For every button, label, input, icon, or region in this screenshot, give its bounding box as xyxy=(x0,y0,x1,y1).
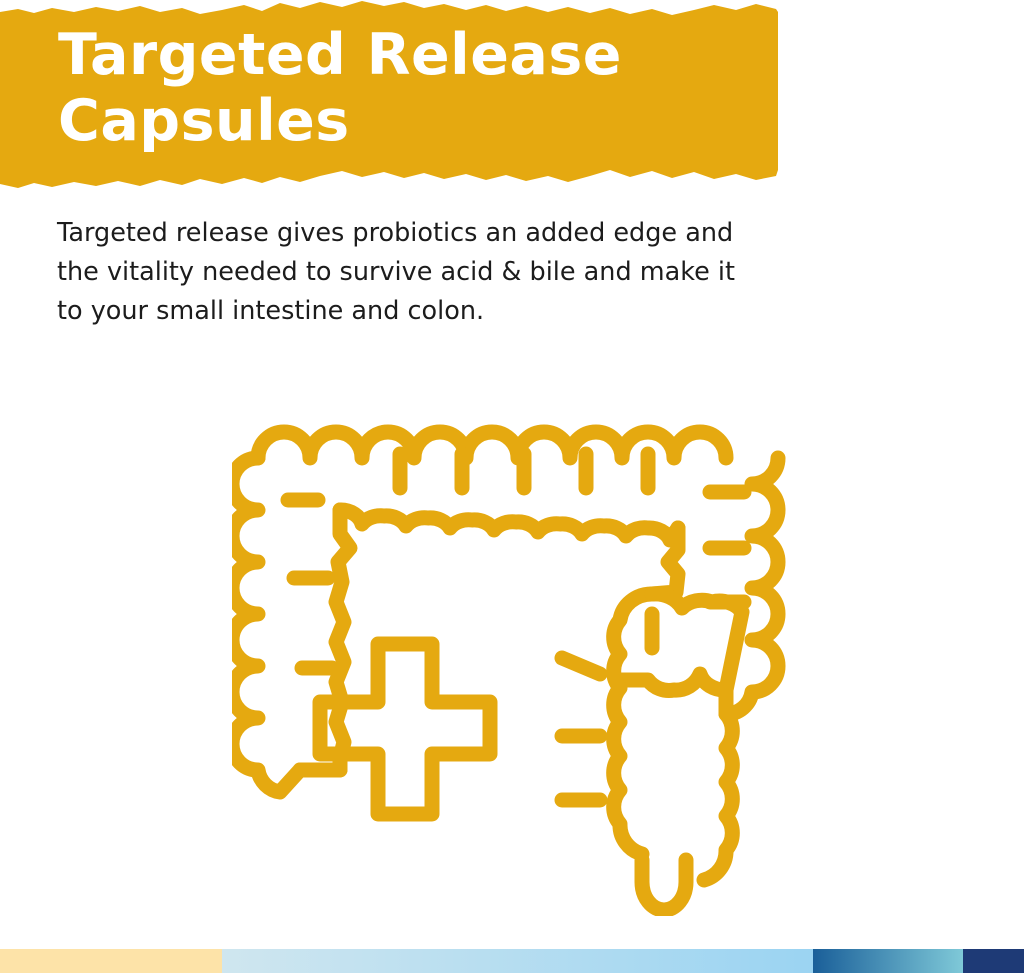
colon-inner-left-wall xyxy=(336,510,350,770)
colon-sigmoid-outer-right xyxy=(652,594,742,880)
description-line-2: the vitality needed to survive acid & bi… xyxy=(57,253,887,292)
colon-ascending-left-outer-edge xyxy=(232,458,300,792)
bottom-bar-segment-navy xyxy=(963,949,1024,973)
description-line-1: Targeted release gives probiotics an add… xyxy=(57,214,887,253)
colon-right-lower-bend xyxy=(622,674,726,691)
bottom-bar-segment-teal xyxy=(813,949,963,973)
title-banner: Targeted Release Capsules xyxy=(0,0,800,196)
description-line-3: to your small intestine and colon. xyxy=(57,292,887,331)
bottom-bar-segment-cream xyxy=(0,949,222,973)
haustra-dash-sigmoid-2 xyxy=(562,658,600,674)
bottom-color-bar xyxy=(0,949,1024,973)
bottom-bar-segment-light-blue xyxy=(222,949,813,973)
rectum-anal-canal xyxy=(642,860,686,910)
page-title-line-2: Capsules xyxy=(58,88,758,154)
colon-illustration xyxy=(232,396,792,916)
large-intestine-colon-icon xyxy=(232,396,792,916)
colon-transverse-inner-edge xyxy=(340,510,678,540)
banner-title-block: Targeted Release Capsules xyxy=(58,22,758,154)
colon-transverse-top-edge xyxy=(258,432,726,458)
description-paragraph: Targeted release gives probiotics an add… xyxy=(57,214,887,331)
page-title-line-1: Targeted Release xyxy=(58,22,758,88)
